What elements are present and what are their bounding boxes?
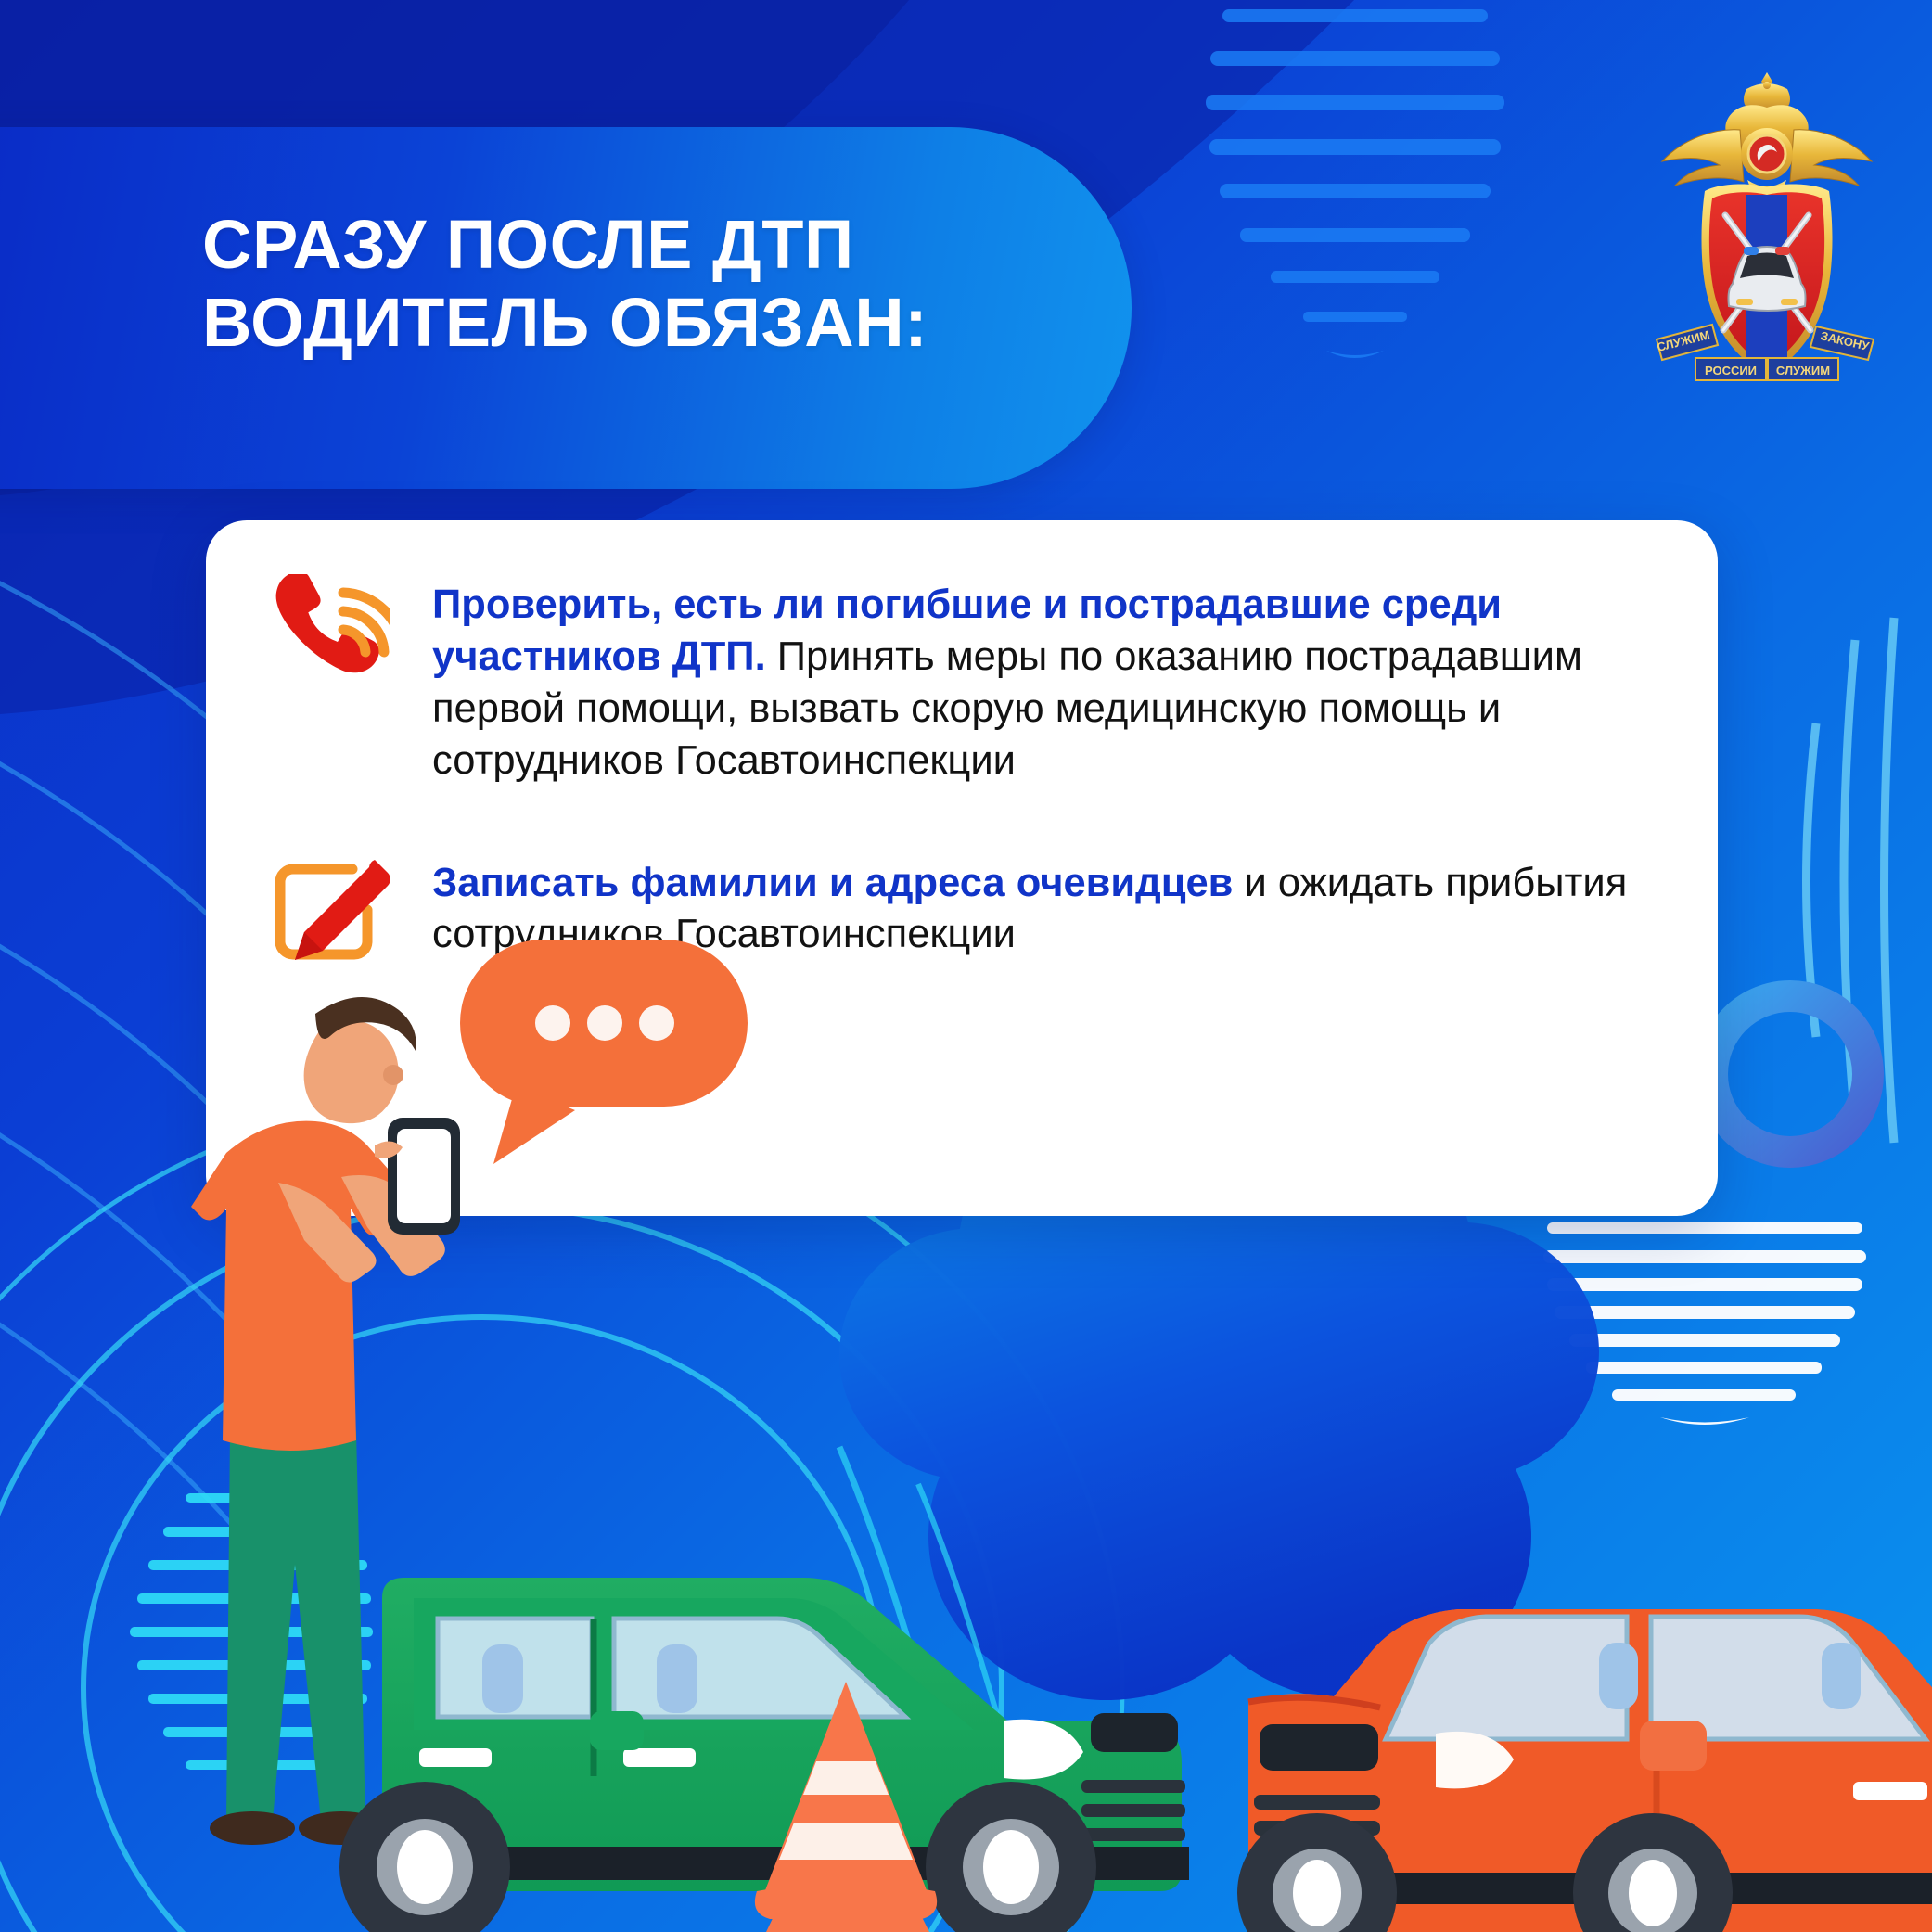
- typing-dots-bubble: [460, 940, 748, 1164]
- page-title: СРАЗУ ПОСЛЕ ДТП ВОДИТЕЛЬ ОБЯЗАН:: [202, 206, 1111, 363]
- list-item-text: Проверить, есть ли погибшие и пострадавш…: [432, 574, 1653, 787]
- green-car: [339, 1578, 1189, 1932]
- shield-icon: [1702, 185, 1833, 380]
- gibdd-emblem: СЛУЖИМ РОССИИ СЛУЖИМ ЗАКОНУ: [1651, 65, 1883, 390]
- red-car: [1237, 1609, 1932, 1932]
- phone-ringing-icon: [265, 574, 390, 697]
- accident-scene-illustration: [0, 912, 1932, 1932]
- list-item-bold-text: Записать фамилии и адреса очевидцев: [432, 861, 1233, 905]
- motto-word-rossii: РОССИИ: [1705, 364, 1757, 377]
- motto-word-sluzhim: СЛУЖИМ: [1776, 364, 1830, 377]
- infographic-poster: СРАЗУ ПОСЛЕ ДТП ВОДИТЕЛЬ ОБЯЗАН:: [0, 0, 1932, 1932]
- list-item: Проверить, есть ли погибшие и пострадавш…: [265, 574, 1653, 787]
